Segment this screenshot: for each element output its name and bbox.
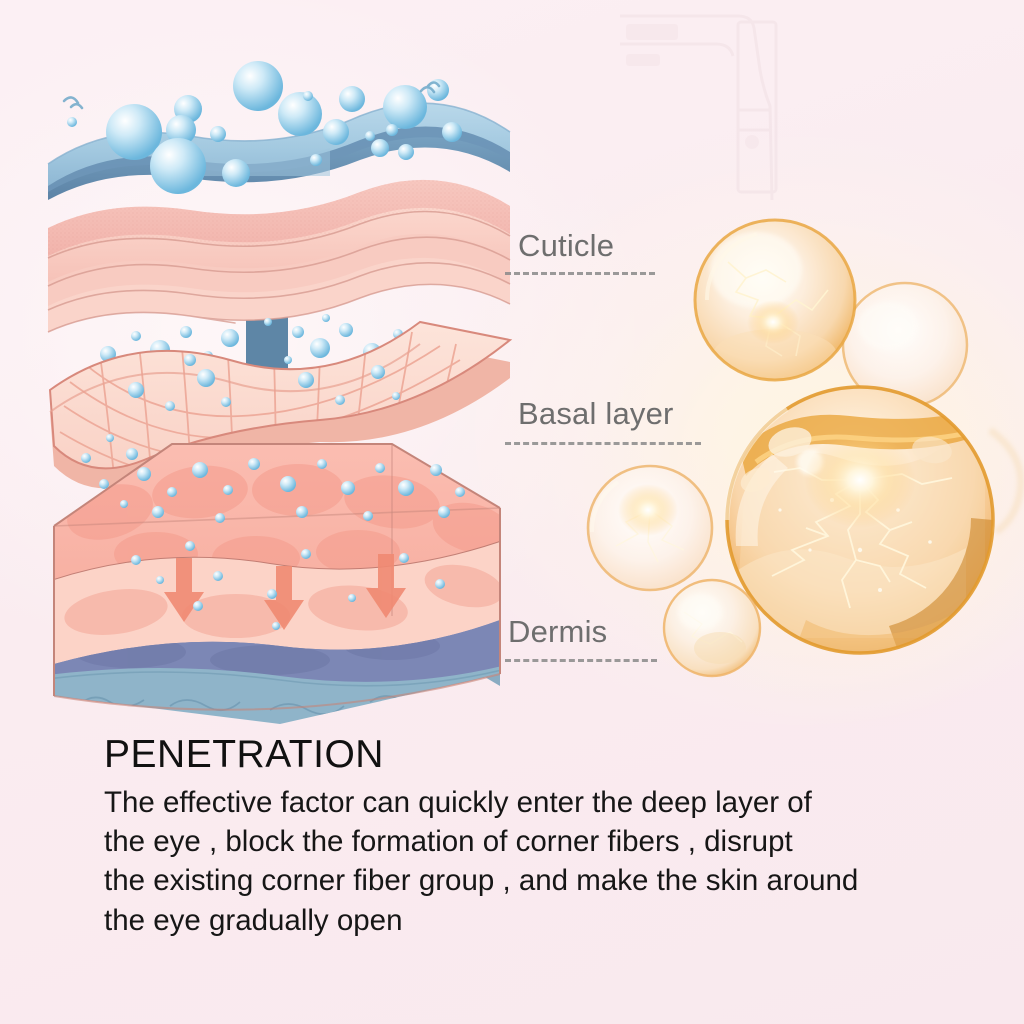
label-cuticle: Cuticle [518,228,614,264]
poster-canvas: Cuticle Basal layer Dermis PENETRATION T… [0,0,1024,1024]
body-line-3: the existing corner fiber group , and ma… [104,861,934,900]
page-title: PENETRATION [104,735,934,774]
body-line-2: the eye , block the formation of corner … [104,822,934,861]
label-basal-layer-rule [505,442,701,445]
sphere-left [588,466,712,590]
body-line-1: The effective factor can quickly enter t… [104,783,934,822]
label-dermis: Dermis [508,614,607,650]
body-copy: The effective factor can quickly enter t… [104,783,934,940]
sphere-top [695,220,855,381]
label-basal-layer: Basal layer [518,396,674,432]
skin-layers-diagram [40,60,530,720]
label-cuticle-rule [505,272,655,275]
description-block: PENETRATION The effective factor can qui… [104,735,934,940]
sphere-main [727,387,993,658]
body-line-4: the eye gradually open [104,901,934,940]
label-dermis-rule [505,659,657,662]
sphere-bottom [664,580,760,676]
